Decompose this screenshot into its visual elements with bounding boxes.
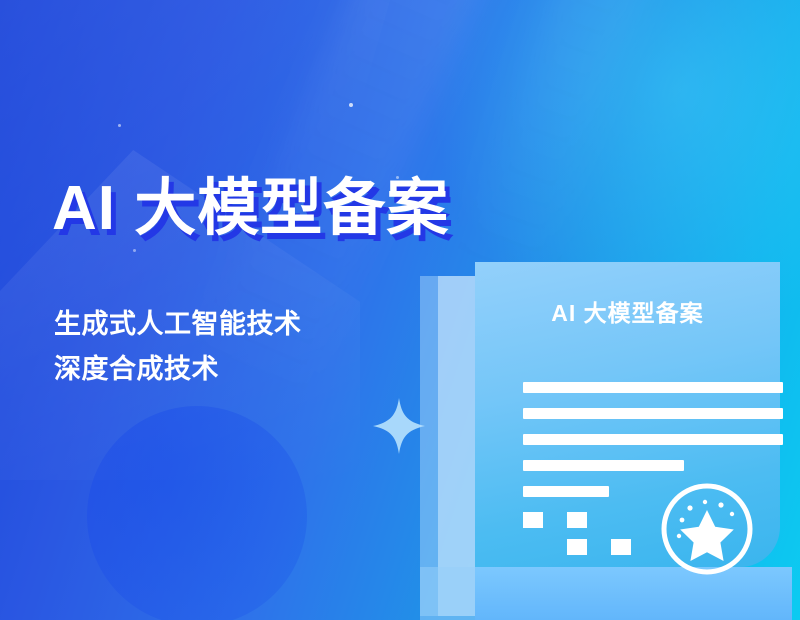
document-dot <box>567 539 587 555</box>
document-band-left <box>420 567 475 620</box>
document-dot <box>611 539 631 555</box>
bokeh-dot-1 <box>118 124 121 127</box>
document-text-line <box>523 408 783 419</box>
large-circle-shape <box>87 406 307 620</box>
subtitle-line-1: 生成式人工智能技术 <box>54 302 302 347</box>
document-text-line <box>523 434 783 445</box>
subtitle-line-2: 深度合成技术 <box>54 347 302 392</box>
document-text-line <box>523 486 609 497</box>
document-text-line <box>523 382 783 393</box>
subtitle-block: 生成式人工智能技术 深度合成技术 <box>54 302 302 391</box>
light-streak-shape-2 <box>454 0 716 290</box>
page-title: AI 大模型备案 <box>52 176 449 241</box>
document-card-title: AI 大模型备案 <box>475 294 780 328</box>
star-in-circle-icon <box>658 480 756 578</box>
promo-banner: AI 大模型备案 生成式人工智能技术 深度合成技术 AI 大模型备案 <box>0 0 800 620</box>
document-dot <box>567 512 587 528</box>
document-dot <box>523 512 543 528</box>
document-stack-illustration: AI 大模型备案 <box>412 252 800 620</box>
bokeh-dot-3 <box>133 249 136 252</box>
bokeh-dot-2 <box>349 103 353 107</box>
document-text-line <box>523 460 684 471</box>
